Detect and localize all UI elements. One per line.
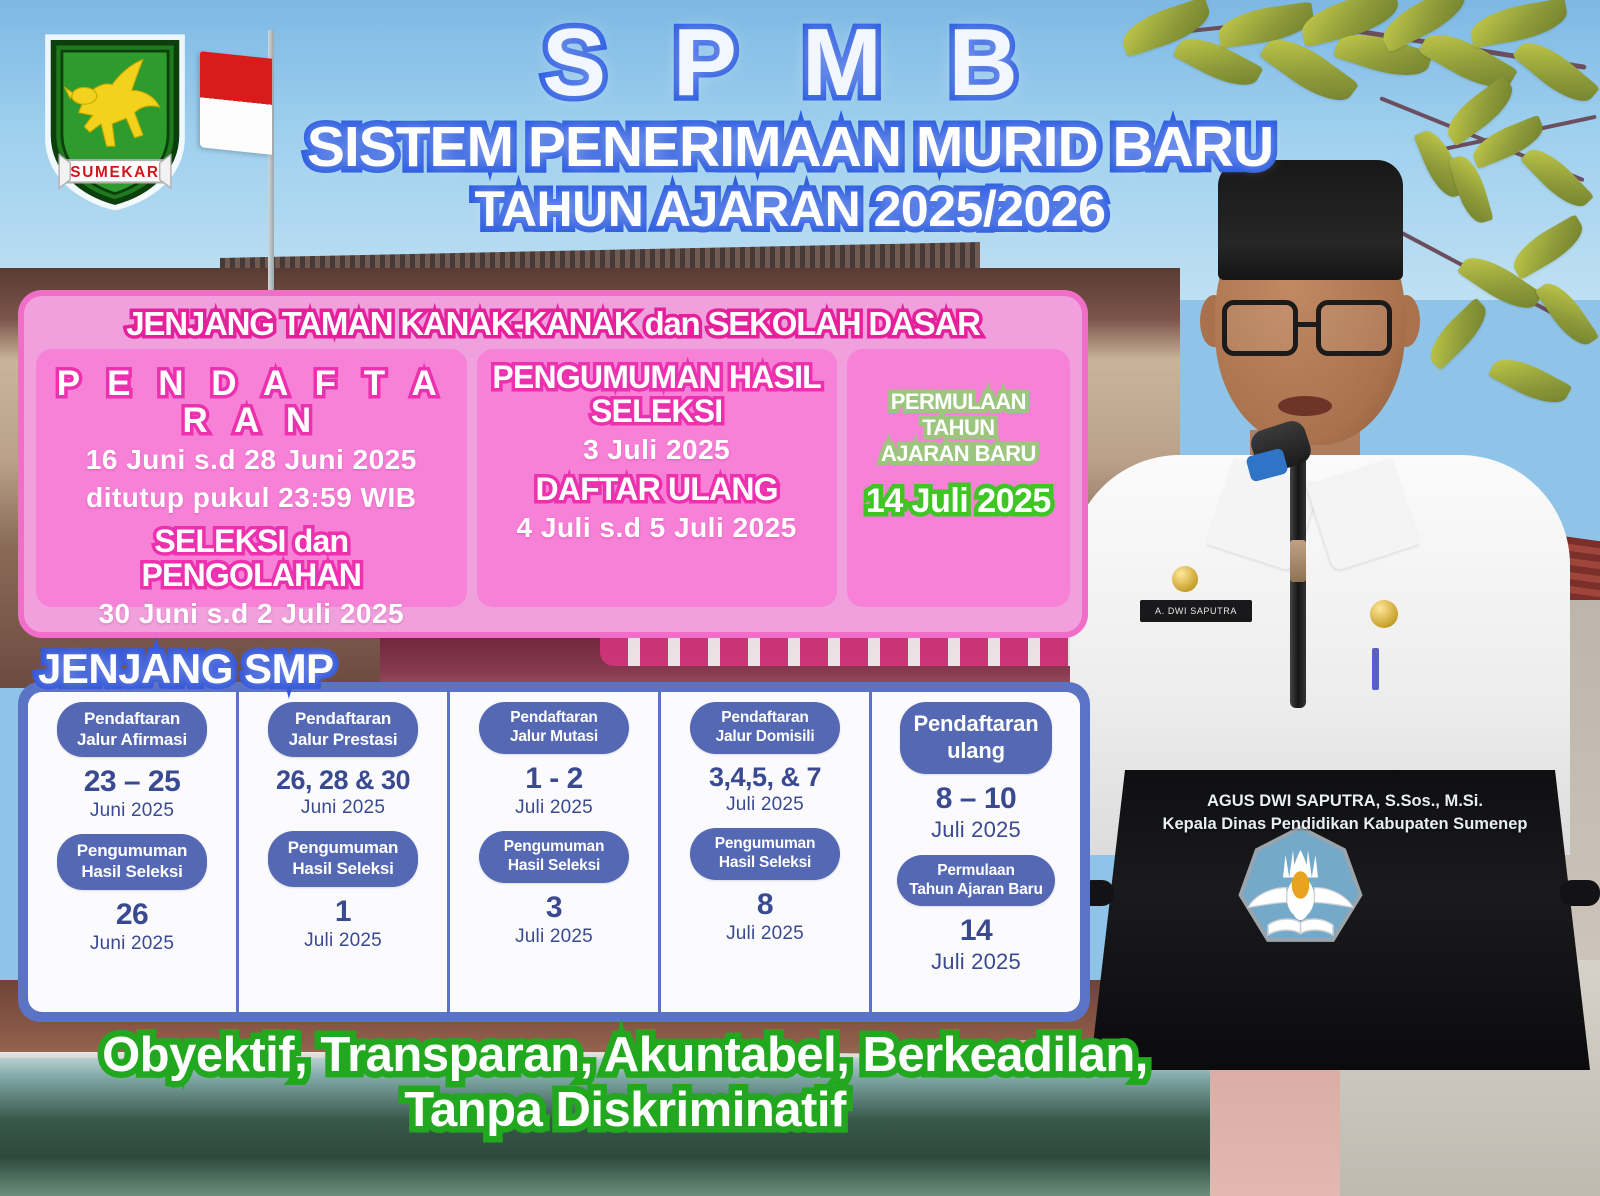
smp-permulaan-month: Juli 2025 — [931, 949, 1021, 975]
speaker-caption: AGUS DWI SAPUTRA, S.Sos., M.Si. Kepala D… — [1120, 790, 1570, 837]
pill-line1: Pendaftaran — [702, 709, 828, 728]
tk-sd-pendaftaran-date2: ditutup pukul 23:59 WIB — [86, 481, 416, 515]
songkok-cap-icon — [1218, 160, 1403, 280]
tk-sd-pendaftaran-title: P E N D A F T A R A N — [42, 365, 461, 439]
slogan-line2: Tanpa Diskriminatif — [0, 1083, 1250, 1138]
pill-line2: ulang — [914, 738, 1039, 765]
smp-pill-pendaftaran-domisili: Pendaftaran Jalur Domisili — [690, 702, 840, 754]
smp-afirmasi-month: Juni 2025 — [90, 800, 174, 822]
smp-domisili-month: Juli 2025 — [726, 794, 804, 816]
speaker-name: AGUS DWI SAPUTRA, S.Sos., M.Si. — [1120, 790, 1570, 813]
pill-line2: Jalur Afirmasi — [69, 730, 195, 751]
smp-column-prestasi: Pendaftaran Jalur Prestasi 26, 28 & 30 J… — [239, 692, 450, 1012]
smp-column-daftar-ulang: Pendaftaran ulang 8 – 10 Juli 2025 Permu… — [872, 692, 1080, 1012]
smp-afirmasi-result-date: 26 — [116, 898, 148, 932]
smp-pill-permulaan-tahun-ajaran: Permulaan Tahun Ajaran Baru — [897, 855, 1055, 907]
pill-line1: Pendaftaran — [280, 709, 406, 730]
smp-mutasi-result-date: 3 — [546, 891, 562, 925]
tk-sd-daftar-ulang-date: 4 Juli s.d 5 Juli 2025 — [517, 511, 797, 545]
smp-ulang-month: Juli 2025 — [931, 817, 1021, 843]
smp-column-mutasi: Pendaftaran Jalur Mutasi 1 - 2 Juli 2025… — [450, 692, 661, 1012]
smp-domisili-result-month: Juli 2025 — [726, 923, 804, 945]
smp-prestasi-month: Juni 2025 — [301, 797, 385, 819]
tk-sd-schedule-panel: JENJANG TAMAN KANAK-KANAK dan SEKOLAH DA… — [18, 290, 1088, 638]
pill-line1: Pendaftaran — [69, 709, 195, 730]
smp-schedule-panel: Pendaftaran Jalur Afirmasi 23 – 25 Juni … — [18, 682, 1090, 1022]
smp-pill-pendaftaran-ulang: Pendaftaran ulang — [900, 702, 1053, 774]
pill-line1: Pendaftaran — [914, 711, 1039, 738]
pill-line2: Hasil Seleksi — [69, 862, 195, 883]
spmb-poster: A. DWI SAPUTRA AGUS DWI SAPUTRA, S.Sos.,… — [0, 0, 1600, 1196]
pill-line2: Hasil Seleksi — [491, 857, 617, 876]
smp-afirmasi-result-month: Juni 2025 — [90, 933, 174, 955]
eyeglasses-bridge — [1298, 322, 1318, 327]
tk-sd-pengumuman-date: 3 Juli 2025 — [583, 433, 730, 467]
smp-column-domisili: Pendaftaran Jalur Domisili 3,4,5, & 7 Ju… — [661, 692, 872, 1012]
shirt-button-gold-icon — [1370, 600, 1398, 628]
tk-sd-column-pendaftaran: P E N D A F T A R A N 16 Juni s.d 28 Jun… — [36, 349, 467, 607]
smp-prestasi-result-month: Juli 2025 — [304, 930, 382, 952]
indonesian-flag — [200, 51, 272, 155]
eyeglasses-right-lens — [1316, 300, 1392, 356]
sumenep-coat-of-arms-icon: SUMEKAR — [30, 26, 200, 216]
smp-pill-pendaftaran-mutasi: Pendaftaran Jalur Mutasi — [479, 702, 629, 754]
pocket-pen-icon — [1372, 648, 1379, 690]
smp-mutasi-dates: 1 - 2 — [525, 762, 583, 796]
smp-afirmasi-dates: 23 – 25 — [84, 765, 181, 799]
lapel-pin-icon — [1172, 566, 1198, 592]
slogan-line1: Obyektif, Transparan, Akuntabel, Berkead… — [102, 1028, 1148, 1082]
pill-line2: Jalur Domisili — [702, 728, 828, 747]
smp-ulang-dates: 8 – 10 — [936, 782, 1016, 816]
tk-sd-permulaan-date: 14 Juli 2025 — [866, 481, 1051, 522]
tk-sd-heading: JENJANG TAMAN KANAK-KANAK dan SEKOLAH DA… — [36, 306, 1070, 343]
smp-mutasi-month: Juli 2025 — [515, 797, 593, 819]
eyeglasses-left-lens — [1222, 300, 1298, 356]
smp-mutasi-result-month: Juli 2025 — [515, 926, 593, 948]
tk-sd-column-permulaan: PERMULAAN TAHUN AJARAN BARU 14 Juli 2025 — [847, 349, 1070, 607]
poster-slogan: Obyektif, Transparan, Akuntabel, Berkead… — [0, 1028, 1250, 1138]
smp-columns: Pendaftaran Jalur Afirmasi 23 – 25 Juni … — [28, 692, 1080, 1012]
tk-sd-permulaan-title-l2: AJARAN BARU — [881, 441, 1036, 467]
smp-prestasi-dates: 26, 28 & 30 — [276, 765, 410, 796]
tk-sd-seleksi-title: SELEKSI dan PENGOLAHAN — [42, 525, 461, 593]
pill-line1: Pengumuman — [491, 838, 617, 857]
tk-sd-seleksi-date: 30 Juni s.d 2 Juli 2025 — [98, 597, 404, 631]
pill-line1: Permulaan — [909, 862, 1043, 881]
smp-section-label: JENJANG SMP — [38, 645, 334, 693]
tk-sd-pendaftaran-date1: 16 Juni s.d 28 Juni 2025 — [86, 443, 417, 477]
tk-sd-daftar-ulang-title: DAFTAR ULANG — [536, 473, 778, 507]
pill-line1: Pengumuman — [280, 838, 406, 859]
tk-sd-permulaan-title-l1: PERMULAAN TAHUN — [853, 389, 1064, 441]
svg-text:SUMEKAR: SUMEKAR — [70, 164, 159, 181]
pill-line2: Jalur Prestasi — [280, 730, 406, 751]
pill-line2: Hasil Seleksi — [280, 859, 406, 880]
pill-line1: Pendaftaran — [491, 709, 617, 728]
speaker-nametag: A. DWI SAPUTRA — [1140, 600, 1252, 622]
smp-pill-pengumuman-afirmasi: Pengumuman Hasil Seleksi — [57, 834, 207, 889]
podium-handle-right — [1560, 880, 1600, 906]
smp-column-afirmasi: Pendaftaran Jalur Afirmasi 23 – 25 Juni … — [28, 692, 239, 1012]
tk-sd-columns: P E N D A F T A R A N 16 Juni s.d 28 Jun… — [36, 349, 1070, 607]
tk-sd-column-pengumuman: PENGUMUMAN HASIL SELEKSI 3 Juli 2025 DAF… — [477, 349, 837, 607]
pill-line1: Pengumuman — [702, 835, 828, 854]
tk-sd-pengumuman-title-l1: PENGUMUMAN HASIL — [492, 361, 821, 395]
pill-line2: Jalur Mutasi — [491, 728, 617, 747]
smp-pill-pengumuman-mutasi: Pengumuman Hasil Seleksi — [479, 831, 629, 883]
smp-pill-pengumuman-prestasi: Pengumuman Hasil Seleksi — [268, 831, 418, 886]
smp-pill-pendaftaran-prestasi: Pendaftaran Jalur Prestasi — [268, 702, 418, 757]
smp-pill-pengumuman-domisili: Pengumuman Hasil Seleksi — [690, 828, 840, 880]
microphone-grip — [1290, 540, 1306, 582]
pill-line1: Pengumuman — [69, 841, 195, 862]
smp-domisili-result-date: 8 — [757, 888, 773, 922]
tk-sd-pengumuman-title-l2: SELEKSI — [591, 395, 722, 429]
smp-domisili-dates: 3,4,5, & 7 — [709, 762, 821, 793]
speaker-mouth — [1278, 396, 1332, 416]
smp-pill-pendaftaran-afirmasi: Pendaftaran Jalur Afirmasi — [57, 702, 207, 757]
speaker-title: Kepala Dinas Pendidikan Kabupaten Sumene… — [1120, 813, 1570, 836]
pill-line2: Hasil Seleksi — [702, 854, 828, 873]
smp-prestasi-result-date: 1 — [335, 895, 351, 929]
smp-permulaan-date: 14 — [960, 914, 992, 948]
kemendikbud-logo-icon — [1238, 825, 1363, 955]
pill-line2: Tahun Ajaran Baru — [909, 881, 1043, 900]
